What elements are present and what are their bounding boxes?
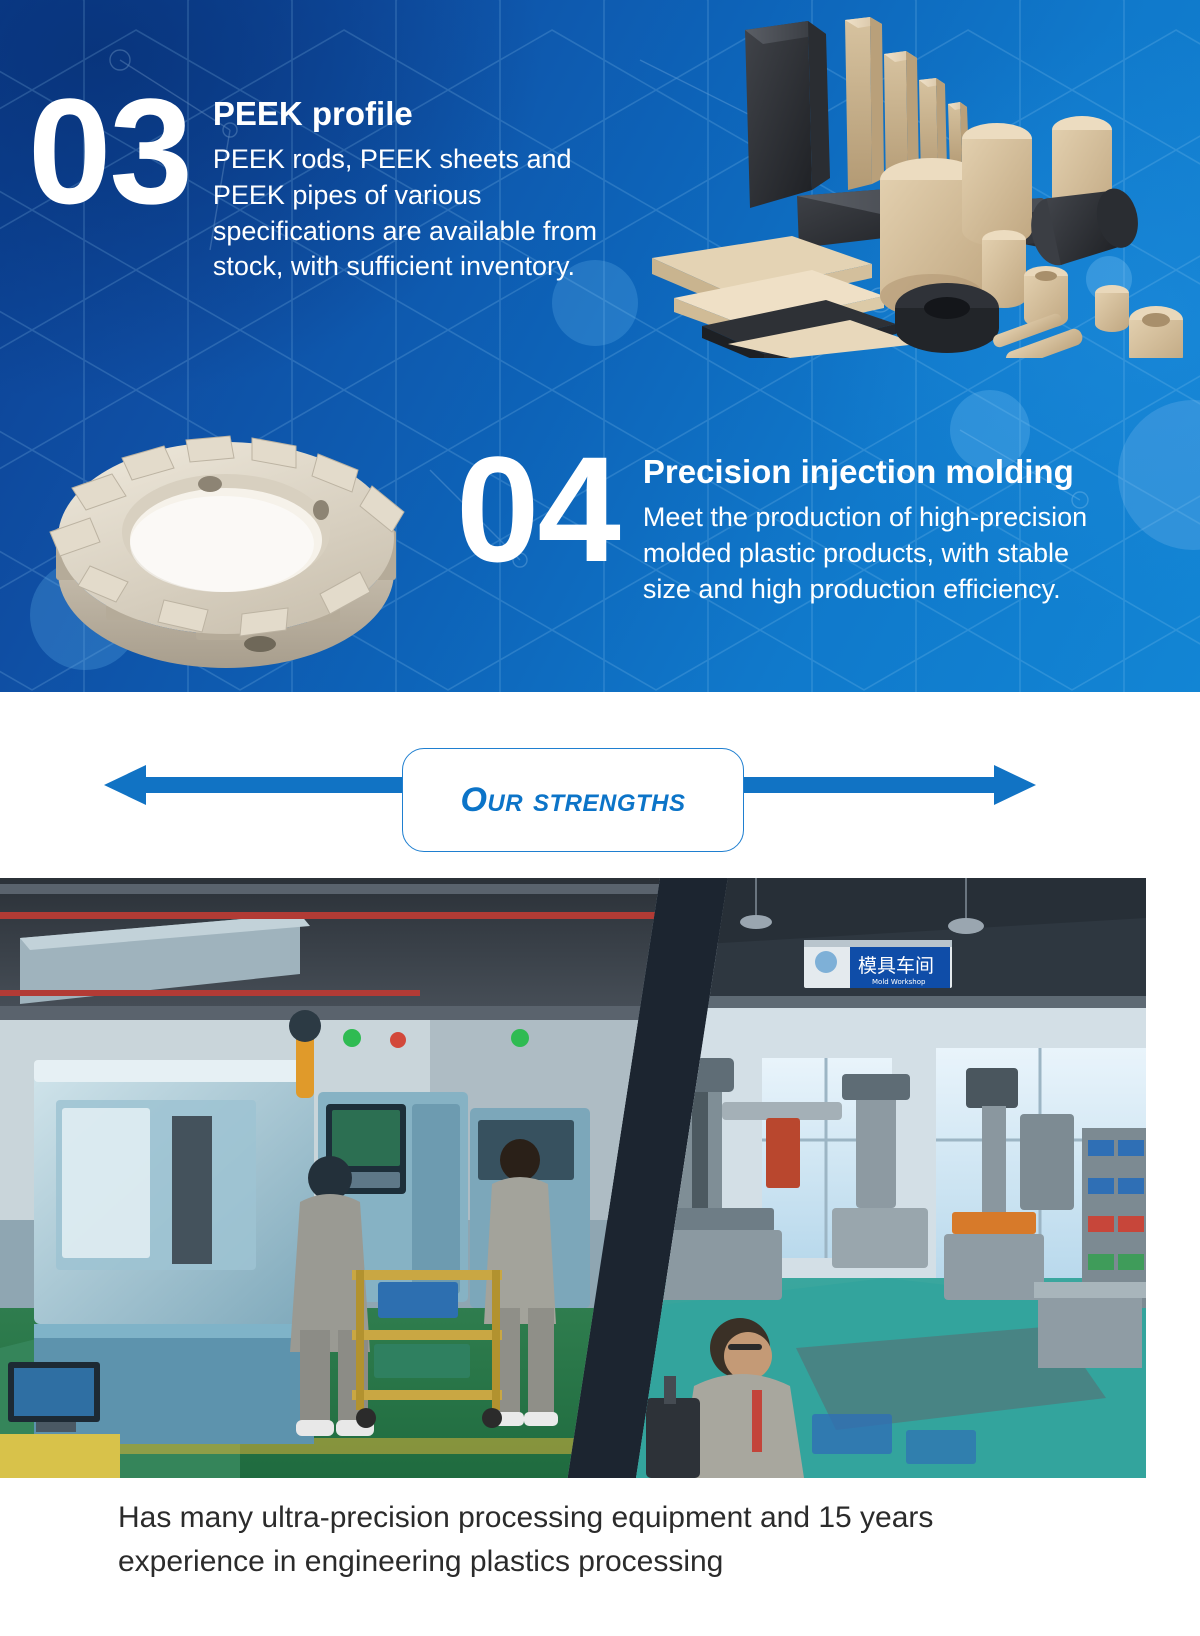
peek-profile-product-image bbox=[612, 8, 1192, 358]
feature-block-04: 04 Precision injection molding Meet the … bbox=[456, 440, 1113, 607]
peek-molded-gear-ring-image bbox=[26, 392, 426, 672]
feature-body: Meet the production of high-precision mo… bbox=[643, 500, 1113, 607]
caption-line-1: Has many ultra-precision processing equi… bbox=[118, 1496, 1118, 1540]
photo-cnc-machining-workshop bbox=[0, 878, 660, 1478]
bottom-caption: Has many ultra-precision processing equi… bbox=[118, 1496, 1118, 1584]
our-strengths-pill: Our strengths bbox=[402, 748, 744, 852]
bubble-decoration bbox=[1118, 400, 1200, 550]
feature-number: 03 bbox=[28, 82, 191, 220]
bubble-decoration bbox=[30, 560, 140, 670]
our-strengths-label: Our strengths bbox=[460, 781, 685, 820]
svg-text:Mold Workshop: Mold Workshop bbox=[872, 978, 926, 986]
feature-body: PEEK rods, PEEK sheets and PEEK pipes of… bbox=[213, 142, 643, 285]
photo-mold-workshop: 模具车间 Mold Workshop bbox=[636, 878, 1146, 1478]
caption-line-2: experience in engineering plastics proce… bbox=[118, 1540, 1118, 1584]
feature-title: Precision injection molding bbox=[643, 454, 1113, 490]
svg-text:模具车间: 模具车间 bbox=[858, 955, 934, 977]
bubble-decoration bbox=[1086, 256, 1132, 302]
feature-title: PEEK profile bbox=[213, 96, 643, 132]
peek-feature-panel: 03 PEEK profile PEEK rods, PEEK sheets a… bbox=[0, 0, 1200, 692]
factory-photo-strip: 模具车间 Mold Workshop bbox=[0, 878, 1146, 1478]
feature-block-03: 03 PEEK profile PEEK rods, PEEK sheets a… bbox=[28, 82, 643, 285]
feature-number: 04 bbox=[456, 440, 619, 578]
